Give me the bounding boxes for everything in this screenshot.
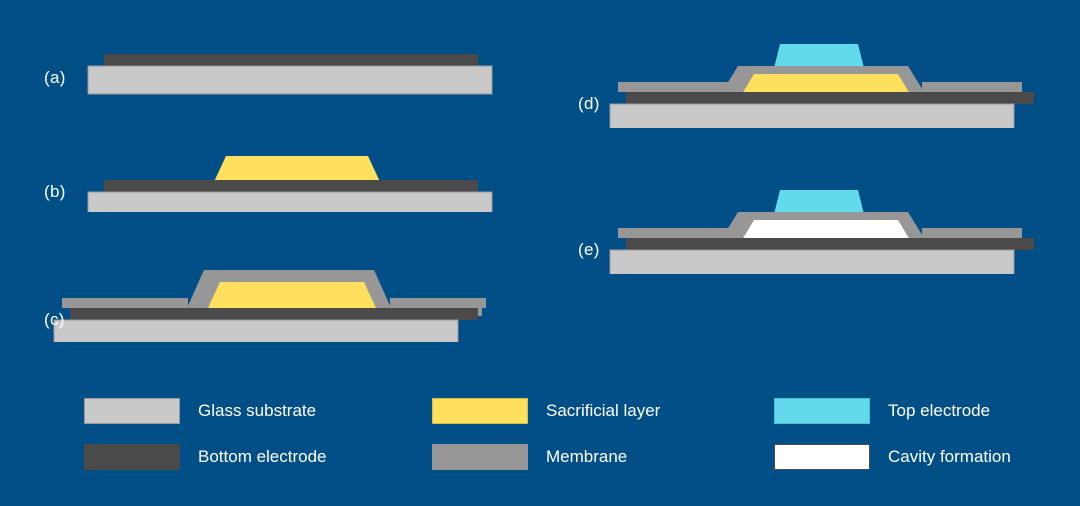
glass-substrate-layer bbox=[54, 320, 458, 342]
panel-e: (e) bbox=[578, 182, 1048, 274]
legend-item-top-electrode: Top electrode bbox=[774, 388, 1080, 434]
membrane-flange-right bbox=[390, 298, 486, 308]
panel-d: (d) bbox=[578, 36, 1048, 128]
panel-e-label: (e) bbox=[578, 240, 600, 260]
glass-substrate-layer bbox=[610, 250, 1014, 274]
legend-label-top-electrode: Top electrode bbox=[888, 401, 990, 421]
panel-b: (b) bbox=[44, 140, 504, 212]
legend-label-sacrificial-layer: Sacrificial layer bbox=[546, 401, 660, 421]
legend-label-glass-substrate: Glass substrate bbox=[198, 401, 316, 421]
top-electrode-trapezoid bbox=[774, 190, 864, 214]
glass-substrate-layer bbox=[88, 192, 492, 212]
panel-b-diagram bbox=[44, 140, 504, 212]
legend-item-glass-substrate: Glass substrate bbox=[84, 388, 404, 434]
legend-label-bottom-electrode: Bottom electrode bbox=[198, 447, 327, 467]
legend-item-membrane: Membrane bbox=[432, 434, 752, 480]
membrane-flange-right bbox=[922, 82, 1022, 92]
cavity-void bbox=[742, 220, 910, 240]
legend-swatch-membrane bbox=[432, 444, 528, 470]
legend-item-cavity-formation: Cavity formation bbox=[774, 434, 1080, 480]
legend-column-1: Glass substrate Bottom electrode bbox=[84, 388, 404, 480]
membrane-flange-left bbox=[62, 298, 188, 308]
legend-item-sacrificial-layer: Sacrificial layer bbox=[432, 388, 752, 434]
legend-label-cavity-formation: Cavity formation bbox=[888, 447, 1011, 467]
top-electrode-trapezoid bbox=[774, 44, 864, 68]
panel-a: (a) bbox=[44, 48, 504, 98]
bottom-electrode-layer bbox=[104, 54, 478, 66]
legend-item-bottom-electrode: Bottom electrode bbox=[84, 434, 404, 480]
membrane-flange-right bbox=[922, 228, 1022, 238]
glass-substrate-layer bbox=[610, 104, 1014, 128]
legend-swatch-bottom-electrode bbox=[84, 444, 180, 470]
fabrication-process-figure: (a) (b) (c) (d) bbox=[0, 0, 1080, 506]
panel-a-diagram bbox=[44, 48, 504, 98]
panel-d-label: (d) bbox=[578, 94, 600, 114]
legend-swatch-cavity-formation bbox=[774, 444, 870, 470]
bottom-electrode-layer bbox=[626, 238, 1034, 250]
panel-e-diagram bbox=[578, 182, 1048, 274]
bottom-electrode-layer bbox=[70, 308, 478, 320]
glass-substrate-layer bbox=[88, 66, 492, 94]
legend-column-2: Sacrificial layer Membrane bbox=[432, 388, 752, 480]
panel-d-diagram bbox=[578, 36, 1048, 128]
panel-c-label: (c) bbox=[44, 310, 65, 330]
sacrificial-layer-trapezoid bbox=[208, 282, 376, 308]
legend: Glass substrate Bottom electrode Sacrifi… bbox=[84, 388, 1044, 478]
legend-column-3: Top electrode Cavity formation bbox=[774, 388, 1080, 480]
panel-a-label: (a) bbox=[44, 68, 66, 88]
bottom-electrode-layer bbox=[104, 180, 478, 192]
panel-c-diagram bbox=[44, 262, 504, 342]
bottom-electrode-layer bbox=[626, 92, 1034, 104]
legend-swatch-glass-substrate bbox=[84, 398, 180, 424]
legend-swatch-sacrificial-layer bbox=[432, 398, 528, 424]
panel-c: (c) bbox=[44, 262, 504, 342]
legend-swatch-top-electrode bbox=[774, 398, 870, 424]
legend-label-membrane: Membrane bbox=[546, 447, 627, 467]
sacrificial-layer-trapezoid bbox=[742, 74, 910, 94]
panel-b-label: (b) bbox=[44, 182, 66, 202]
